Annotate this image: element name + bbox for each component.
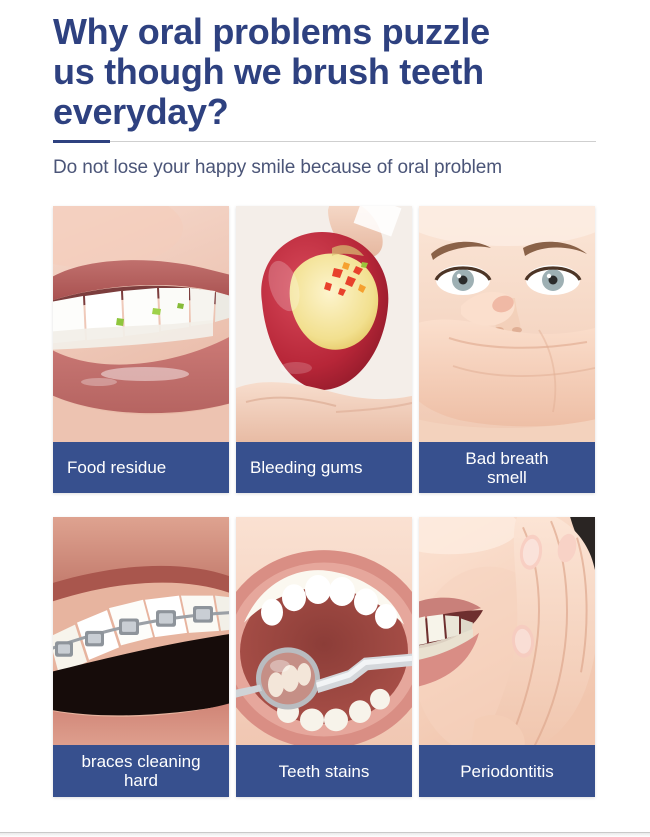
image-close-up-smile-with-green-food-particles-between-teeth: [53, 206, 229, 442]
card-row-1: Food residue: [53, 206, 596, 493]
image-woman-covering-mouth-with-hand: [419, 206, 595, 442]
image-woman-holding-cheek-in-tooth-pain: [419, 517, 595, 745]
caption-food-residue: Food residue: [53, 442, 229, 493]
card-periodontitis[interactable]: Periodontitis: [419, 517, 595, 797]
caption-line-1: Bad breath: [465, 449, 548, 468]
caption-line-1: Periodontitis: [460, 762, 554, 781]
oral-care-promo-banner: Why oral problems puzzle us though we br…: [0, 0, 650, 837]
card-row-2: braces cleaninghard: [53, 517, 596, 797]
page-title: Why oral problems puzzle us though we br…: [53, 12, 598, 132]
caption-line-1: Food residue: [67, 458, 166, 477]
page-title-line-2: us though we brush teeth: [53, 52, 598, 92]
page-title-line-3: everyday?: [53, 92, 598, 132]
image-bitten-red-apple-with-blood-stains-held-in-hand: [236, 206, 412, 442]
page-subtitle: Do not lose your happy smile because of …: [53, 156, 598, 180]
card-bleeding-gums[interactable]: Bleeding gums: [236, 206, 412, 493]
caption-braces-cleaning-hard: braces cleaninghard: [53, 745, 229, 797]
card-teeth-stains[interactable]: Teeth stains: [236, 517, 412, 797]
title-divider: [53, 140, 596, 143]
card-food-residue[interactable]: Food residue: [53, 206, 229, 493]
caption-line-1: braces cleaning: [81, 752, 200, 771]
page-title-line-1: Why oral problems puzzle: [53, 12, 598, 52]
caption-teeth-stains: Teeth stains: [236, 745, 412, 797]
caption-line-2: smell: [465, 468, 548, 487]
header: Why oral problems puzzle us though we br…: [53, 12, 598, 180]
divider-line: [53, 141, 596, 142]
caption-line-1: Teeth stains: [279, 762, 370, 781]
divider-accent-segment: [53, 140, 110, 143]
caption-text: braces cleaninghard: [81, 752, 200, 790]
caption-bleeding-gums: Bleeding gums: [236, 442, 412, 493]
bottom-divider-shadow: [0, 833, 650, 837]
caption-text: Bad breathsmell: [465, 449, 548, 487]
problem-card-grid: Food residue: [53, 206, 596, 797]
card-braces-cleaning-hard[interactable]: braces cleaninghard: [53, 517, 229, 797]
caption-bad-breath-smell: Bad breathsmell: [419, 442, 595, 493]
caption-periodontitis: Periodontitis: [419, 745, 595, 797]
caption-line-2: hard: [81, 771, 200, 790]
image-open-mouth-with-dental-mirror-and-probe: [236, 517, 412, 745]
image-teeth-with-metal-braces-close-up: [53, 517, 229, 745]
caption-line-1: Bleeding gums: [250, 458, 362, 477]
card-bad-breath-smell[interactable]: Bad breathsmell: [419, 206, 595, 493]
